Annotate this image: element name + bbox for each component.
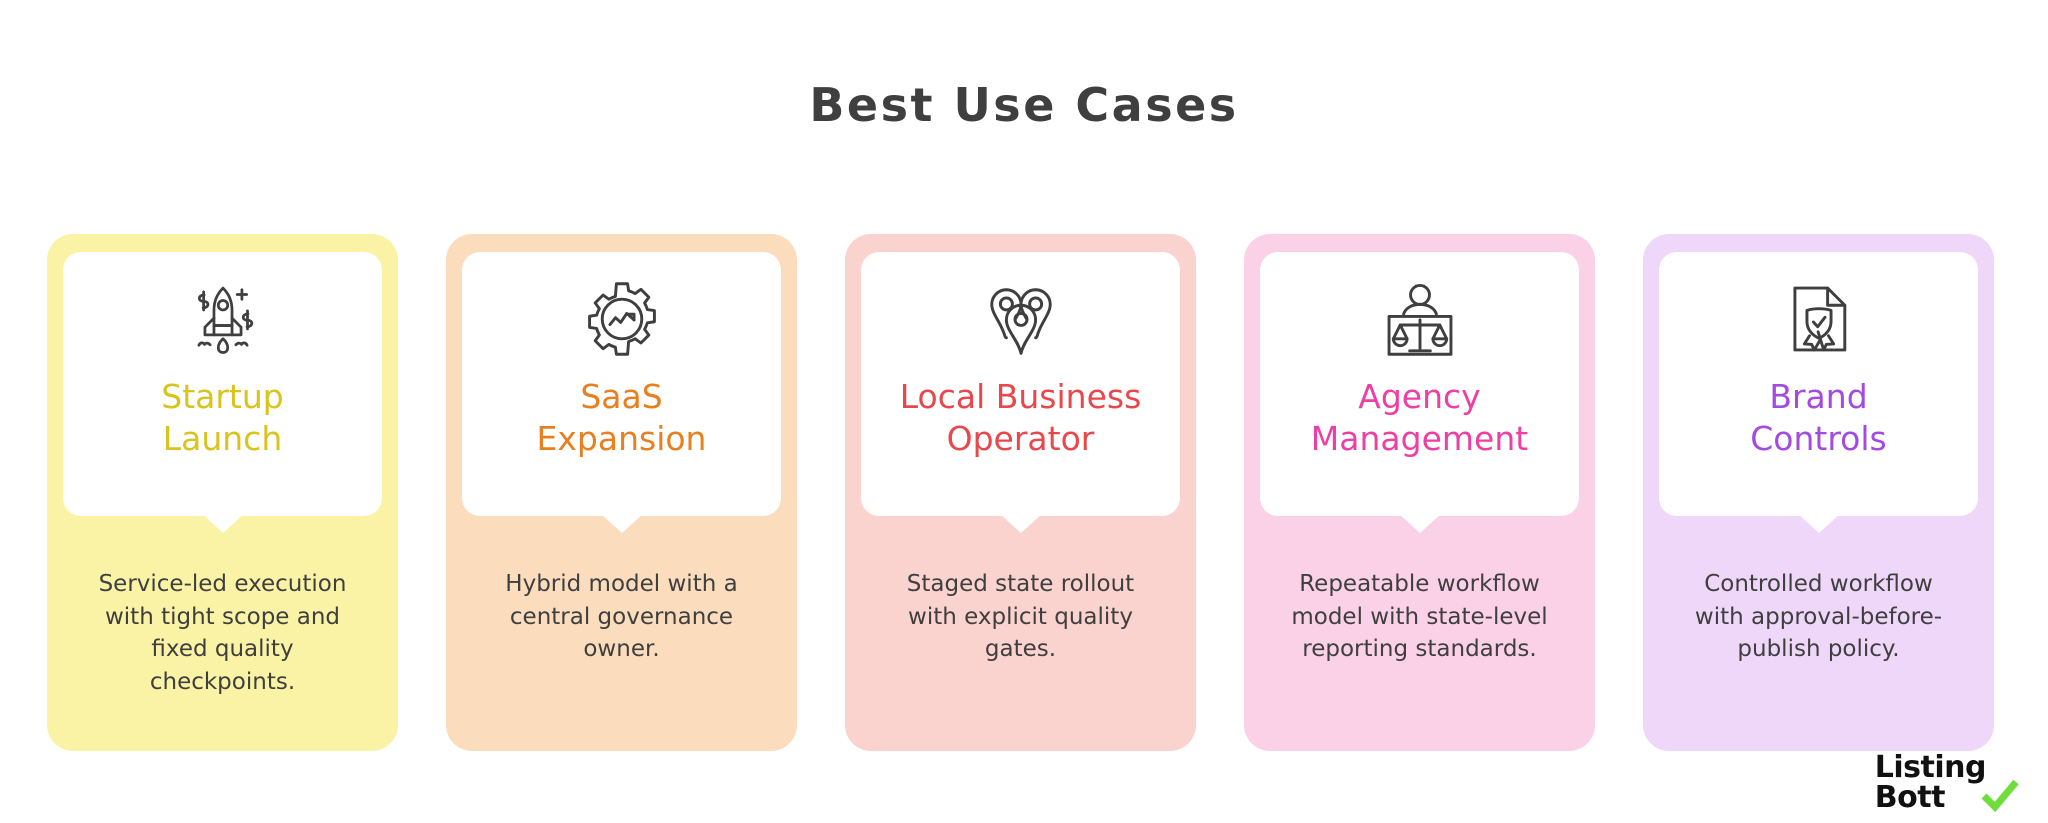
page-title: Best Use Cases <box>0 82 2048 128</box>
card-heading: Brand Controls <box>1740 376 1896 460</box>
card-body-text: Controlled workflow with approval-before… <box>1688 568 1950 666</box>
card-body-text: Hybrid model with a central governance o… <box>491 568 753 666</box>
card-bubble: Agency Management <box>1260 252 1579 516</box>
card-bubble: Startup Launch <box>63 252 382 516</box>
card-heading: SaaS Expansion <box>527 376 717 460</box>
gear-trend-icon <box>579 276 665 362</box>
card-heading: Local Business Operator <box>890 376 1152 460</box>
logo-line-listing: Listing <box>1875 753 1986 783</box>
rocket-money-icon <box>180 276 266 362</box>
card-heading: Agency Management <box>1301 376 1538 460</box>
use-case-card-local-business-operator[interactable]: Local Business Operator Staged state rol… <box>845 234 1196 751</box>
use-case-card-row: Startup Launch Service-led execution wit… <box>47 234 2001 751</box>
slide-canvas: Best Use Cases <box>0 0 2048 823</box>
use-case-card-saas-expansion[interactable]: SaaS Expansion Hybrid model with a centr… <box>446 234 797 751</box>
logo-line-bott: Bott <box>1875 783 1986 813</box>
certified-document-icon <box>1776 276 1862 362</box>
card-heading: Startup Launch <box>151 376 293 460</box>
card-body-text: Repeatable workflow model with state-lev… <box>1289 568 1551 666</box>
card-bubble: SaaS Expansion <box>462 252 781 516</box>
judge-scales-icon <box>1377 276 1463 362</box>
use-case-card-agency-management[interactable]: Agency Management Repeatable workflow mo… <box>1244 234 1595 751</box>
logo-wordmark: Listing Bott <box>1875 753 1986 813</box>
card-bubble: Local Business Operator <box>861 252 1180 516</box>
card-bubble: Brand Controls <box>1659 252 1978 516</box>
green-check-icon <box>1980 778 2020 812</box>
use-case-card-brand-controls[interactable]: Brand Controls Controlled workflow with … <box>1643 234 1994 751</box>
card-body-text: Staged state rollout with explicit quali… <box>890 568 1152 666</box>
card-body-text: Service-led execution with tight scope a… <box>92 568 354 699</box>
listingbott-logo: Listing Bott <box>1875 753 2020 813</box>
use-case-card-startup-launch[interactable]: Startup Launch Service-led execution wit… <box>47 234 398 751</box>
map-pins-icon <box>978 276 1064 362</box>
